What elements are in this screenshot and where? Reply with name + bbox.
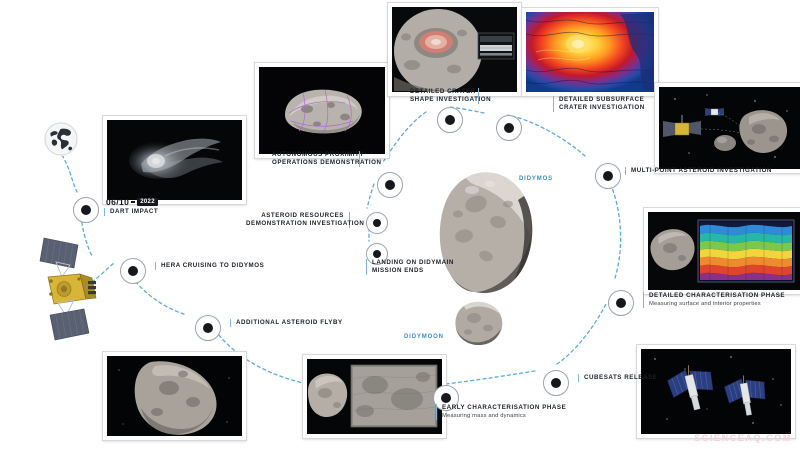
caption-hera-cruising-title: HERA CRUISING TO DIDYMOS bbox=[161, 262, 264, 270]
earth-icon bbox=[44, 122, 78, 156]
caption-autonomous-proximity-line2: OPERATIONS DEMONSTRATION bbox=[272, 159, 354, 167]
site-watermark: SCIENCEAQ.COM bbox=[694, 433, 792, 443]
dart-impact-plume-photo bbox=[103, 116, 246, 204]
caption-landing-didymain-line1: LANDING ON DIDYMAIN bbox=[372, 259, 454, 267]
node-detailed-characterisation[interactable] bbox=[608, 290, 634, 316]
node-cubesats-release[interactable] bbox=[543, 370, 569, 396]
didymos-body bbox=[440, 172, 532, 293]
caption-subsurface-crater[interactable]: DETAILED SUBSURFACE CRATER INVESTIGATION bbox=[553, 96, 645, 112]
caption-asteroid-resources-line2: DEMONSTRATION INVESTIGATION bbox=[246, 220, 344, 228]
caption-dart-impact[interactable]: DART IMPACT bbox=[104, 208, 158, 216]
surface-map-image bbox=[648, 212, 800, 290]
dart-date-dash bbox=[131, 201, 135, 203]
node-dart-impact[interactable] bbox=[73, 197, 99, 223]
caption-asteroid-resources[interactable]: ASTEROID RESOURCES DEMONSTRATION INVESTI… bbox=[246, 212, 350, 228]
node-subsurface-crater[interactable] bbox=[496, 115, 522, 141]
caption-multi-point[interactable]: MULTI-POINT ASTEROID INVESTIGATION bbox=[625, 167, 772, 175]
dart-year-badge: 2022 bbox=[137, 198, 158, 206]
didymos-system-illustration bbox=[420, 160, 560, 350]
caption-crater-shape-line2: SHAPE INVESTIGATION bbox=[410, 96, 473, 104]
dart-impact-date: 06/10 2022 bbox=[106, 197, 158, 207]
caption-detailed-characterisation-title: DETAILED CHARACTERISATION PHASE bbox=[649, 292, 785, 300]
caption-detailed-characterisation-subtitle: Measuring surface and interior propertie… bbox=[649, 301, 785, 308]
cubesats-image bbox=[641, 349, 791, 434]
node-multi-point[interactable] bbox=[595, 163, 621, 189]
node-additional-flyby[interactable] bbox=[195, 315, 221, 341]
caption-early-characterisation-title: EARLY CHARACTERISATION PHASE bbox=[442, 404, 566, 412]
hera-spacecraft-illustration bbox=[30, 236, 100, 349]
plume-image bbox=[107, 120, 242, 200]
flyby-asteroid-image bbox=[107, 356, 242, 436]
node-autonomous-proximity[interactable] bbox=[377, 172, 403, 198]
additional-flyby-photo bbox=[103, 352, 246, 440]
multi-point-investigation-photo bbox=[655, 83, 800, 173]
node-crater-shape[interactable] bbox=[437, 107, 463, 133]
node-asteroid-resources[interactable] bbox=[366, 212, 388, 234]
caption-multi-point-title: MULTI-POINT ASTEROID INVESTIGATION bbox=[631, 167, 772, 175]
early-characterisation-image bbox=[307, 359, 442, 434]
caption-cubesats-release[interactable]: CUBESATS RELEASE bbox=[578, 374, 657, 382]
earth-globe-glyph bbox=[44, 122, 78, 156]
cubesats-release-photo bbox=[637, 345, 795, 438]
caption-detailed-characterisation[interactable]: DETAILED CHARACTERISATION PHASE Measurin… bbox=[643, 292, 785, 308]
caption-subsurface-crater-line2: CRATER INVESTIGATION bbox=[559, 104, 645, 112]
didymoon-label: DIDYMOON bbox=[404, 334, 444, 340]
detailed-characterisation-photo bbox=[644, 208, 800, 294]
shape-model-image bbox=[259, 67, 385, 154]
caption-autonomous-proximity[interactable]: AUTONOMOUS PROXIMITY OPERATIONS DEMONSTR… bbox=[272, 151, 360, 167]
asteroid-shape-model-photo bbox=[255, 63, 389, 158]
caption-landing-didymain-line2: MISSION ENDS bbox=[372, 267, 454, 275]
caption-early-characterisation-subtitle: Measuring mass and dynamics bbox=[442, 413, 566, 420]
caption-hera-cruising[interactable]: HERA CRUISING TO DIDYMOS bbox=[155, 262, 264, 270]
caption-landing-didymain[interactable]: LANDING ON DIDYMAIN MISSION ENDS bbox=[366, 259, 454, 275]
caption-additional-flyby[interactable]: ADDITIONAL ASTEROID FLYBY bbox=[230, 319, 343, 327]
caption-subsurface-crater-line1: DETAILED SUBSURFACE bbox=[559, 96, 645, 104]
caption-autonomous-proximity-line1: AUTONOMOUS PROXIMITY bbox=[272, 151, 354, 159]
node-hera-cruising[interactable] bbox=[120, 258, 146, 284]
subsurface-radar-image bbox=[526, 12, 654, 92]
caption-early-characterisation[interactable]: EARLY CHARACTERISATION PHASE Measuring m… bbox=[436, 404, 566, 420]
subsurface-radar-photo bbox=[522, 8, 658, 96]
caption-additional-flyby-title: ADDITIONAL ASTEROID FLYBY bbox=[236, 319, 343, 327]
multi-point-image bbox=[659, 87, 800, 169]
infographic-canvas: DIDYMOS DIDYMOON 06/10 2022 DART IMPACT … bbox=[0, 0, 800, 449]
crater-shape-photo bbox=[388, 3, 521, 96]
caption-cubesats-release-title: CUBESATS RELEASE bbox=[584, 374, 657, 382]
dart-date-value: 06/10 bbox=[106, 197, 129, 207]
didymos-label: DIDYMOS bbox=[519, 176, 553, 182]
didymoon-body bbox=[455, 302, 502, 345]
caption-dart-impact-title: DART IMPACT bbox=[110, 208, 158, 216]
caption-crater-shape-line1: DETAILED CRATER bbox=[410, 88, 473, 96]
crater-shape-image bbox=[392, 7, 517, 92]
hera-spacecraft-glyph bbox=[30, 236, 100, 344]
caption-crater-shape[interactable]: DETAILED CRATER SHAPE INVESTIGATION bbox=[410, 88, 479, 104]
caption-asteroid-resources-line1: ASTEROID RESOURCES bbox=[246, 212, 344, 220]
early-characterisation-photo bbox=[303, 355, 446, 438]
